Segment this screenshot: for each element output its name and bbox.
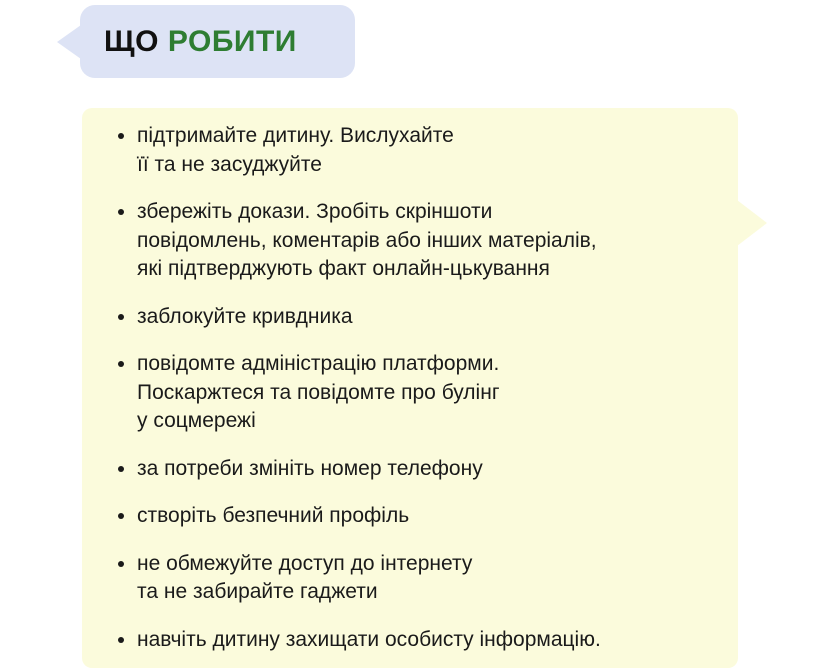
list-item: підтримайте дитину. Вислухайте її та не … <box>118 122 724 179</box>
advice-list: підтримайте дитину. Вислухайте її та не … <box>118 122 724 654</box>
list-item: за потреби змініть номер телефону <box>118 455 724 484</box>
bullet-icon <box>118 637 124 643</box>
bullet-icon <box>118 561 124 567</box>
list-item-text: збережіть докази. Зробіть скріншоти пові… <box>137 198 724 284</box>
list-item: навчіть дитину захищати особисту інформа… <box>118 626 724 655</box>
header-bubble-tail-icon <box>57 25 81 59</box>
list-item-text: підтримайте дитину. Вислухайте її та не … <box>137 122 724 179</box>
page-title-primary: ЩО <box>104 27 159 57</box>
header-speech-bubble: ЩО РОБИТИ <box>80 5 355 78</box>
list-item: повідомте адміністрацію платформи. Поска… <box>118 350 724 436</box>
list-item-text: повідомте адміністрацію платформи. Поска… <box>137 350 724 436</box>
bullet-icon <box>118 314 124 320</box>
list-item: створіть безпечний профіль <box>118 502 724 531</box>
page-title-accent: РОБИТИ <box>168 27 297 57</box>
page-title: ЩО РОБИТИ <box>104 5 345 78</box>
list-item: збережіть докази. Зробіть скріншоти пові… <box>118 198 724 284</box>
bullet-icon <box>118 466 124 472</box>
advice-card: підтримайте дитину. Вислухайте її та не … <box>82 108 738 668</box>
bullet-icon <box>118 133 124 139</box>
list-item-text: за потреби змініть номер телефону <box>137 455 724 484</box>
list-item-text: навчіть дитину захищати особисту інформа… <box>137 626 724 655</box>
bullet-icon <box>118 361 124 367</box>
list-item-text: створіть безпечний профіль <box>137 502 724 531</box>
bullet-icon <box>118 209 124 215</box>
list-item-text: не обмежуйте доступ до інтернету та не з… <box>137 550 724 607</box>
list-item: заблокуйте кривдника <box>118 303 724 332</box>
bullet-icon <box>118 513 124 519</box>
list-item-text: заблокуйте кривдника <box>137 303 724 332</box>
list-item: не обмежуйте доступ до інтернету та не з… <box>118 550 724 607</box>
advice-card-tail-icon <box>737 200 767 246</box>
